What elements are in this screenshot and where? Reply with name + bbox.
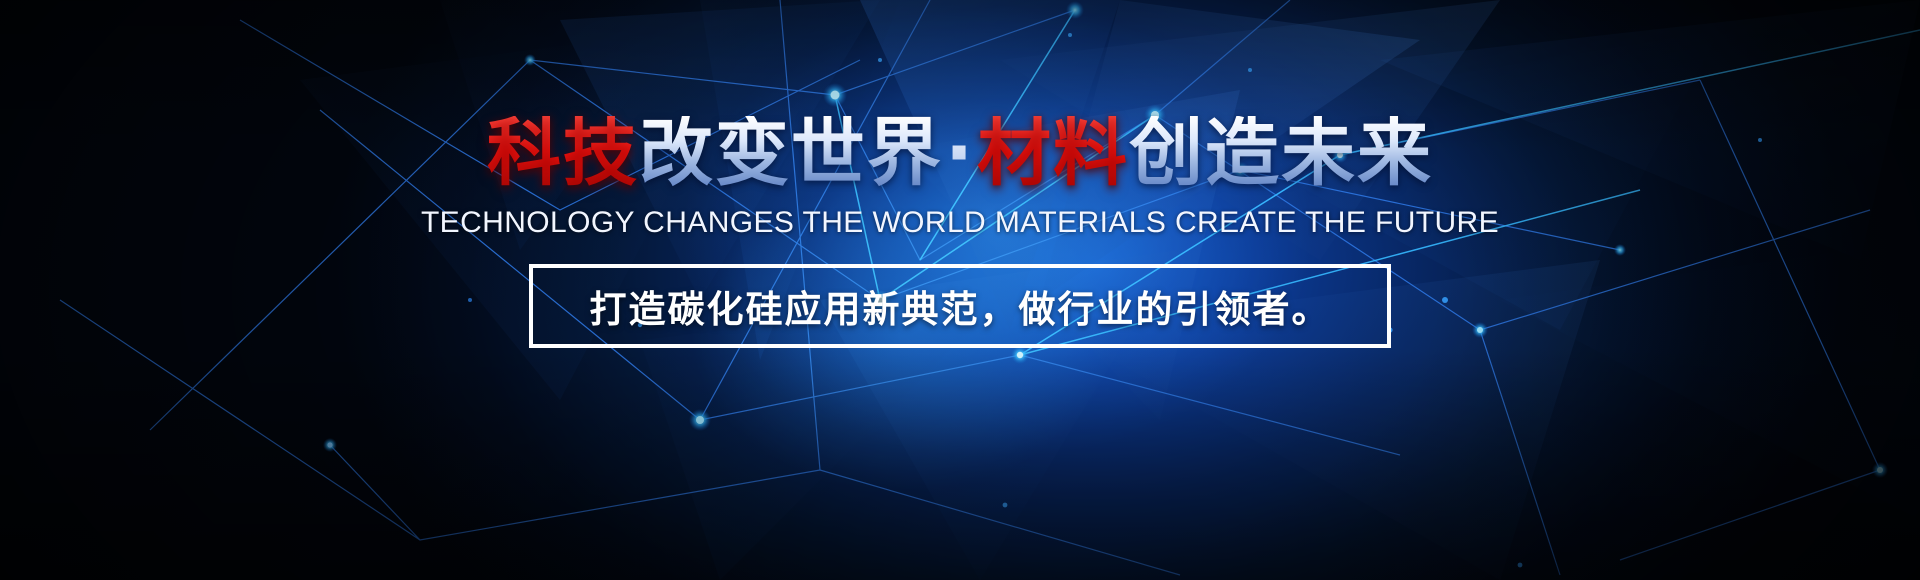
headline-separator-dot: · (943, 116, 977, 190)
tagline-text: 打造碳化硅应用新典范，做行业的引领者。 (590, 279, 1331, 333)
headline-segment-4: 创造未来 (1129, 116, 1433, 190)
hero-banner: 科技 改变世界 · 材料 创造未来 TECHNOLOGY CHANGES THE… (0, 0, 1920, 580)
headline-segment-2: 改变世界 (639, 116, 943, 190)
headline: 科技 改变世界 · 材料 创造未来 (487, 116, 1433, 190)
headline-segment-1: 科技 (487, 116, 639, 190)
headline-subtitle-english: TECHNOLOGY CHANGES THE WORLD MATERIALS C… (421, 206, 1499, 240)
headline-segment-3: 材料 (977, 116, 1129, 190)
tagline-box: 打造碳化硅应用新典范，做行业的引领者。 (529, 264, 1391, 348)
banner-content: 科技 改变世界 · 材料 创造未来 TECHNOLOGY CHANGES THE… (0, 0, 1920, 348)
